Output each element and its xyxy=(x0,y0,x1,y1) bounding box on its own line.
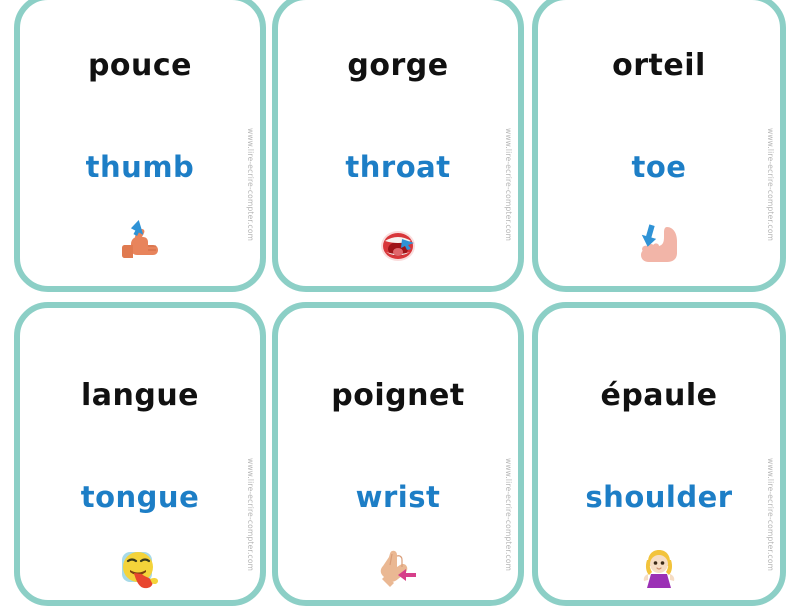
hand-wrist-arrow-icon xyxy=(278,540,518,596)
card-content: poignet wrist www.lire-ecrire-compter.co… xyxy=(278,308,518,600)
french-word: orteil xyxy=(538,48,780,83)
flashcard-gorge[interactable]: gorge throat www.lire-ecrire-compter.com xyxy=(272,0,524,292)
flashcard-poignet[interactable]: poignet wrist www.lire-ecrire-compter.co… xyxy=(272,302,524,606)
english-word: thumb xyxy=(20,150,260,184)
english-word: toe xyxy=(538,150,780,184)
english-word: tongue xyxy=(20,480,260,514)
foot-with-arrow-icon xyxy=(538,216,780,272)
watermark: www.lire-ecrire-compter.com xyxy=(646,458,776,472)
card-content: pouce thumb www.lire-ecrire-compter.com xyxy=(20,0,260,286)
english-word: throat xyxy=(278,150,518,184)
card-content: épaule shoulder www.lire-ecrire-compter.… xyxy=(538,308,780,600)
card-content: langue tongue www.lire-ecrire-compter.co… xyxy=(20,308,260,600)
flashcard-orteil[interactable]: orteil toe www.lire-ecrire-compter.com xyxy=(532,0,786,292)
french-word: épaule xyxy=(538,378,780,413)
french-word: pouce xyxy=(20,48,260,83)
french-word: gorge xyxy=(278,48,518,83)
flashcard-pouce[interactable]: pouce thumb www.lire-ecrire-compter.com xyxy=(14,0,266,292)
english-word: wrist xyxy=(278,480,518,514)
person-shoulder-icon xyxy=(538,540,780,596)
watermark: www.lire-ecrire-compter.com xyxy=(126,128,256,142)
french-word: langue xyxy=(20,378,260,413)
flashcard-sheet: pouce thumb www.lire-ecrire-compter.com … xyxy=(0,0,800,600)
open-mouth-throat-icon xyxy=(278,216,518,272)
card-content: gorge throat www.lire-ecrire-compter.com xyxy=(278,0,518,286)
thumbs-up-with-arrow-icon xyxy=(20,216,260,272)
watermark: www.lire-ecrire-compter.com xyxy=(384,458,514,472)
watermark: www.lire-ecrire-compter.com xyxy=(384,128,514,142)
face-with-tongue-icon xyxy=(20,540,260,596)
watermark: www.lire-ecrire-compter.com xyxy=(126,458,256,472)
flashcard-langue[interactable]: langue tongue www.lire-ecrire-compter.co… xyxy=(14,302,266,606)
flashcard-epaule[interactable]: épaule shoulder www.lire-ecrire-compter.… xyxy=(532,302,786,606)
watermark: www.lire-ecrire-compter.com xyxy=(646,128,776,142)
english-word: shoulder xyxy=(538,480,780,514)
french-word: poignet xyxy=(278,378,518,413)
card-content: orteil toe www.lire-ecrire-compter.com xyxy=(538,0,780,286)
